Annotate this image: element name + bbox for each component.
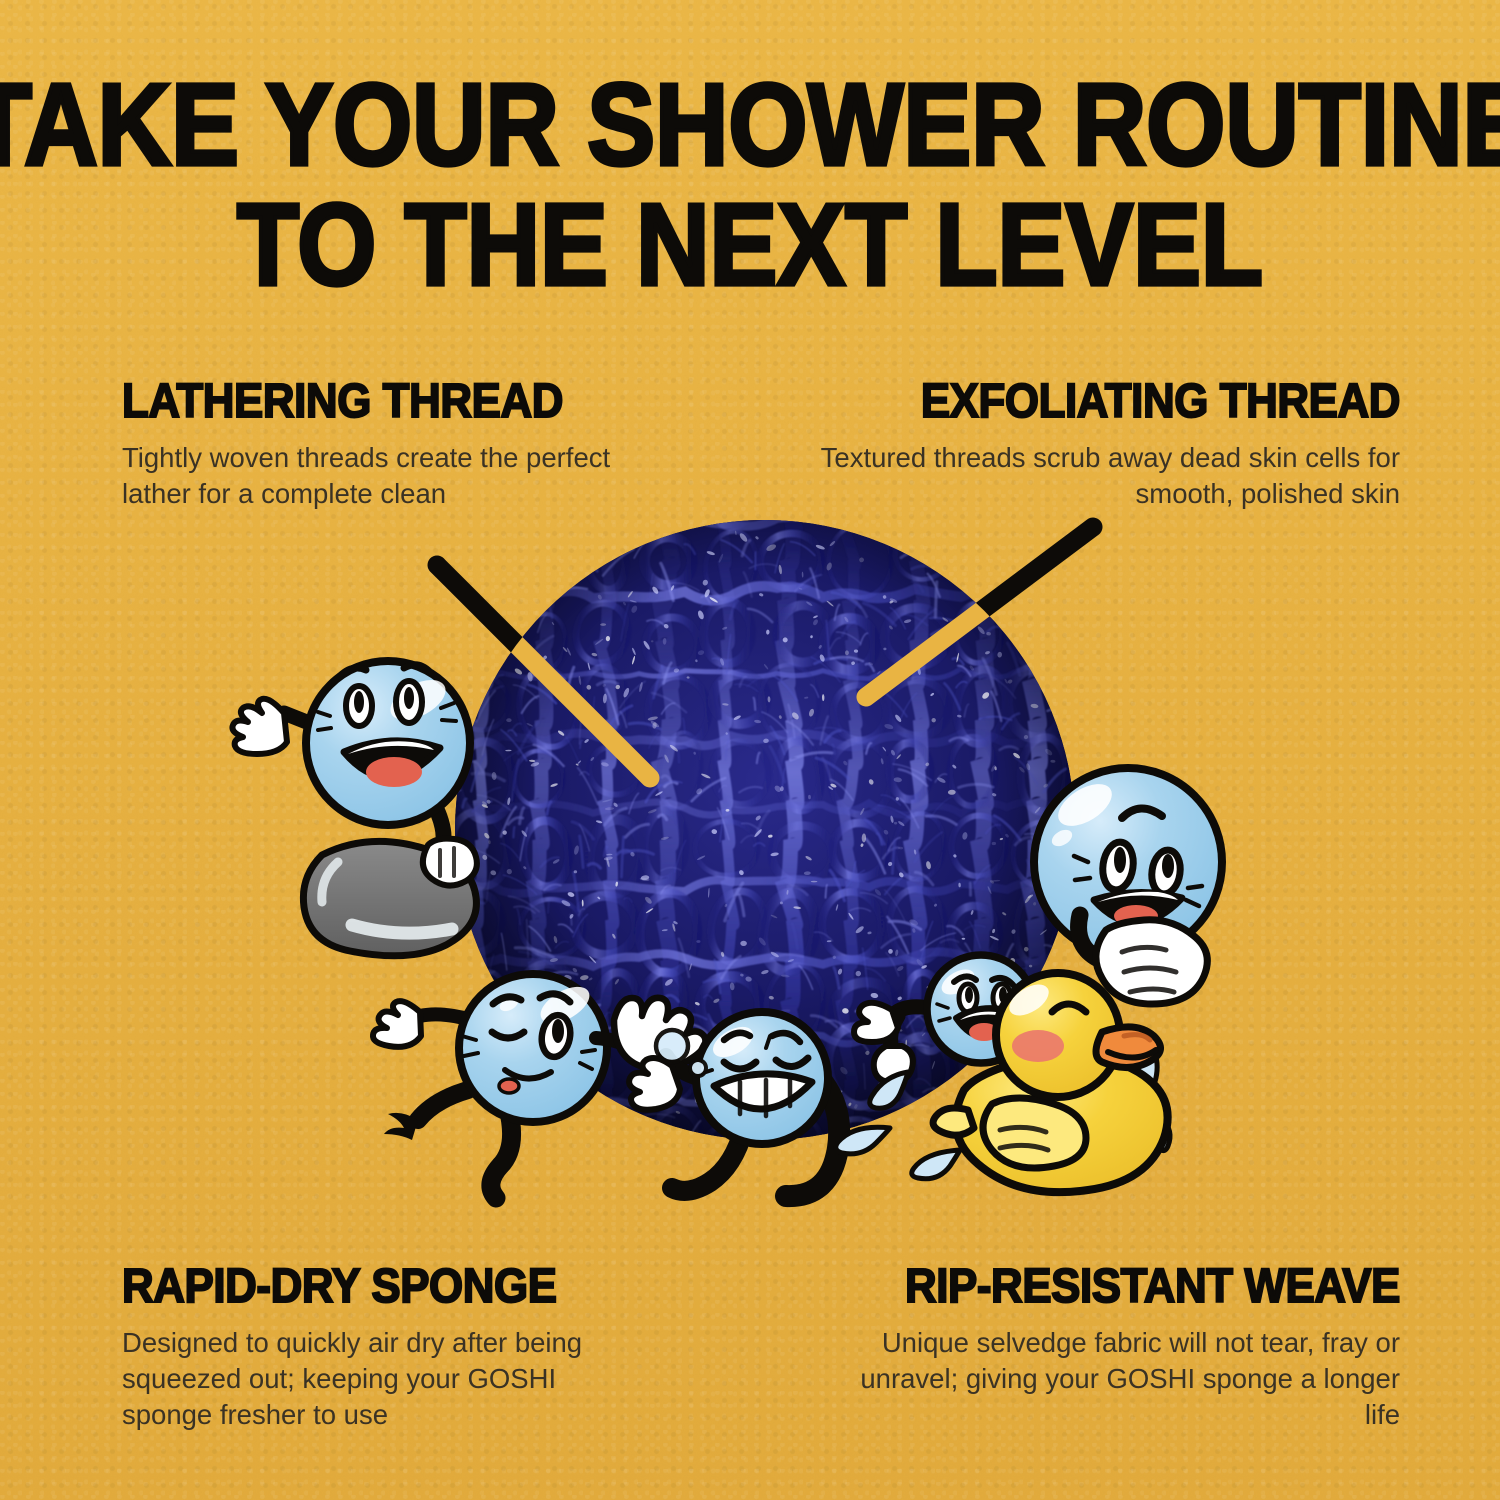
feature-body-exfoliating: Textured threads scrub away dead skin ce… bbox=[820, 440, 1400, 512]
feature-body-rapid-dry: Designed to quickly air dry after being … bbox=[122, 1325, 642, 1433]
fabric-swatch-circle bbox=[455, 520, 1075, 1140]
fabric-swatch bbox=[455, 520, 1075, 1140]
woven-mesh-texture bbox=[455, 520, 1075, 1140]
feature-lathering-thread: LATHERING THREAD Tightly woven threads c… bbox=[122, 378, 642, 512]
feature-exfoliating-thread: EXFOLIATING THREAD Textured threads scru… bbox=[820, 378, 1400, 512]
feature-title-rip-resistant: RIP-RESISTANT WEAVE bbox=[808, 1263, 1400, 1311]
feature-rip-resistant-weave: RIP-RESISTANT WEAVE Unique selvedge fabr… bbox=[820, 1263, 1400, 1433]
feature-body-rip-resistant: Unique selvedge fabric will not tear, fr… bbox=[820, 1325, 1400, 1433]
feature-rapid-dry-sponge: RAPID-DRY SPONGE Designed to quickly air… bbox=[122, 1263, 642, 1433]
headline-line-1: TAKE YOUR SHOWER ROUTINE bbox=[0, 74, 1500, 178]
headline-line-2: TO THE NEXT LEVEL bbox=[0, 194, 1500, 298]
feature-title-exfoliating: EXFOLIATING THREAD bbox=[808, 378, 1400, 426]
feature-title-lathering: LATHERING THREAD bbox=[122, 378, 652, 426]
feature-title-rapid-dry: RAPID-DRY SPONGE bbox=[122, 1263, 652, 1311]
feature-body-lathering: Tightly woven threads create the perfect… bbox=[122, 440, 642, 512]
page-title: TAKE YOUR SHOWER ROUTINE TO THE NEXT LEV… bbox=[0, 74, 1500, 279]
